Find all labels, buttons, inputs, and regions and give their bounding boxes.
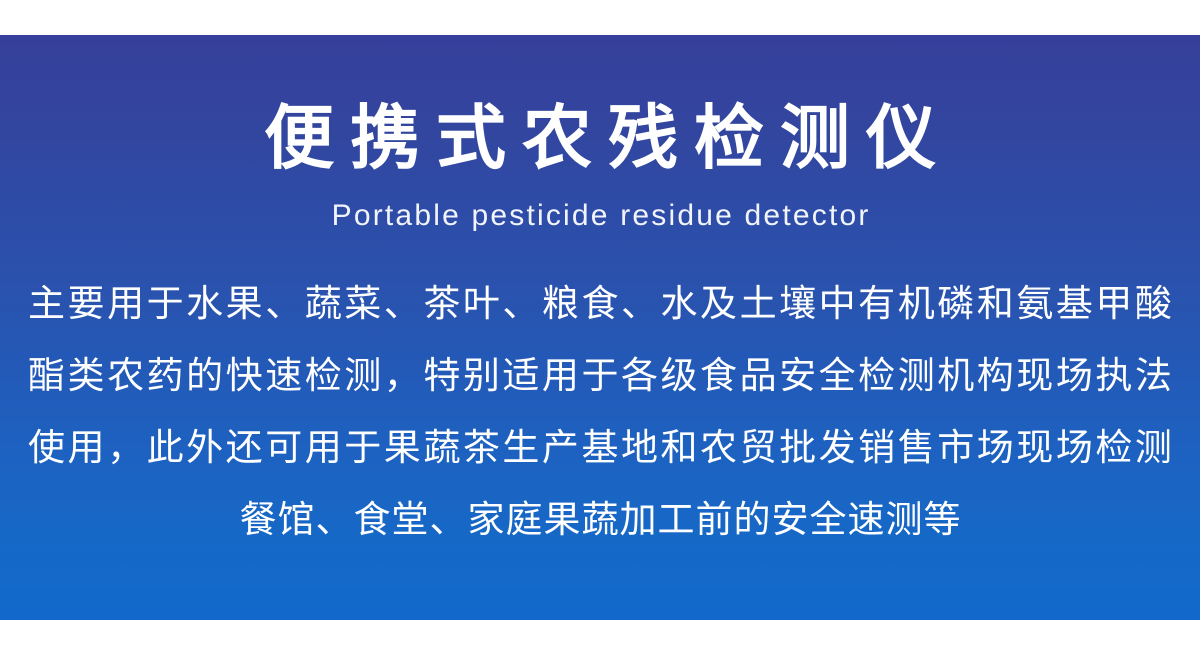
description-char: 类 [68, 340, 105, 412]
description-char: 机 [937, 340, 974, 412]
description-line: 主要用于水果、蔬菜、茶叶、粮食、水及土壤中有机磷和氨基甲酸 [28, 268, 1172, 340]
description-char: 特 [423, 340, 460, 412]
description-line: 餐馆、食堂、家庭果蔬加工前的安全速测等 [28, 484, 1172, 556]
description-char: 测 [344, 340, 381, 412]
description-char: 发 [819, 412, 856, 484]
description-char: 菜 [344, 268, 381, 340]
description-char: 用 [542, 340, 579, 412]
description-char: 执 [1095, 340, 1132, 412]
description-char: 贸 [740, 412, 777, 484]
description-char: 地 [621, 412, 658, 484]
description-char: 现 [1016, 340, 1053, 412]
description-char: 场 [1056, 340, 1093, 412]
description-char: 此 [147, 412, 184, 484]
description-char: 市 [937, 412, 974, 484]
description-char: 适 [502, 340, 539, 412]
description-char: 售 [898, 412, 935, 484]
description-char: 主 [28, 268, 65, 340]
description-char: 批 [779, 412, 816, 484]
description-char: 蔬 [423, 412, 460, 484]
description-char: 和 [977, 268, 1014, 340]
description-char: 机 [898, 268, 935, 340]
description-char: 基 [581, 412, 618, 484]
description-char: 土 [740, 268, 777, 340]
description-char: 安 [779, 340, 816, 412]
description-char: 各 [621, 340, 658, 412]
description-char: 快 [226, 340, 263, 412]
description-char: 农 [107, 340, 144, 412]
description-char: 和 [661, 412, 698, 484]
description-char: 、 [502, 268, 539, 340]
description-char: 使 [28, 412, 65, 484]
description-char: 氨 [1016, 268, 1053, 340]
description-char: 生 [502, 412, 539, 484]
description-char: 级 [661, 340, 698, 412]
description-char: 测 [1135, 412, 1172, 484]
description-char: 茶 [423, 268, 460, 340]
description-char: 蔬 [305, 268, 342, 340]
description-char: 、 [265, 268, 302, 340]
description-char: 用 [107, 268, 144, 340]
description-char: 药 [147, 340, 184, 412]
description-char: 销 [858, 412, 895, 484]
description-char: 于 [344, 412, 381, 484]
description-char: 、 [621, 268, 658, 340]
description-char: 于 [147, 268, 184, 340]
description-char: 磷 [937, 268, 974, 340]
description-char: 、 [384, 268, 421, 340]
description-char: 食 [581, 268, 618, 340]
title-block: 便携式农残检测仪 [0, 92, 1200, 184]
description-char: 于 [581, 340, 618, 412]
description-char: 及 [700, 268, 737, 340]
description-char: 基 [1056, 268, 1093, 340]
description-char: ， [107, 412, 144, 484]
description-char: 全 [819, 340, 856, 412]
description-char: 品 [740, 340, 777, 412]
description-char: 农 [700, 412, 737, 484]
description-char: 酸 [1135, 268, 1172, 340]
description-line: 酯类农药的快速检测，特别适用于各级食品安全检测机构现场执法 [28, 340, 1172, 412]
description-char: 测 [898, 340, 935, 412]
description-char: 构 [977, 340, 1014, 412]
description-char: 速 [265, 340, 302, 412]
description-paragraph: 主要用于水果、蔬菜、茶叶、粮食、水及土壤中有机磷和氨基甲酸 酯类农药的快速检测，… [28, 268, 1172, 556]
description-char: 水 [661, 268, 698, 340]
description-char: 壤 [779, 268, 816, 340]
description-char: 用 [305, 412, 342, 484]
description-char: 茶 [463, 412, 500, 484]
description-char: 产 [542, 412, 579, 484]
description-char: ， [384, 340, 421, 412]
description-char: 场 [1056, 412, 1093, 484]
description-char: 粮 [542, 268, 579, 340]
description-char: 别 [463, 340, 500, 412]
description-char: 甲 [1095, 268, 1132, 340]
description-char: 还 [226, 412, 263, 484]
description-char: 检 [1095, 412, 1132, 484]
description-char: 有 [858, 268, 895, 340]
description-char: 中 [819, 268, 856, 340]
description-line: 使用，此外还可用于果蔬茶生产基地和农贸批发销售市场现场检测 [28, 412, 1172, 484]
description-char: 果 [384, 412, 421, 484]
description-char: 果 [226, 268, 263, 340]
description-char: 外 [186, 412, 223, 484]
page-title: 便携式农残检测仪 [0, 92, 1200, 184]
description-char: 食 [700, 340, 737, 412]
description-char: 酯 [28, 340, 65, 412]
description-char: 要 [68, 268, 105, 340]
description-char: 叶 [463, 268, 500, 340]
description-char: 水 [186, 268, 223, 340]
description-char: 的 [186, 340, 223, 412]
description-char: 现 [1016, 412, 1053, 484]
description-char: 法 [1135, 340, 1172, 412]
product-banner: 便携式农残检测仪 Portable pesticide residue dete… [0, 0, 1200, 650]
description-char: 用 [68, 412, 105, 484]
description-char: 场 [977, 412, 1014, 484]
description-char: 可 [265, 412, 302, 484]
page-subtitle: Portable pesticide residue detector [0, 196, 1200, 236]
description-char: 检 [305, 340, 342, 412]
description-char: 检 [858, 340, 895, 412]
